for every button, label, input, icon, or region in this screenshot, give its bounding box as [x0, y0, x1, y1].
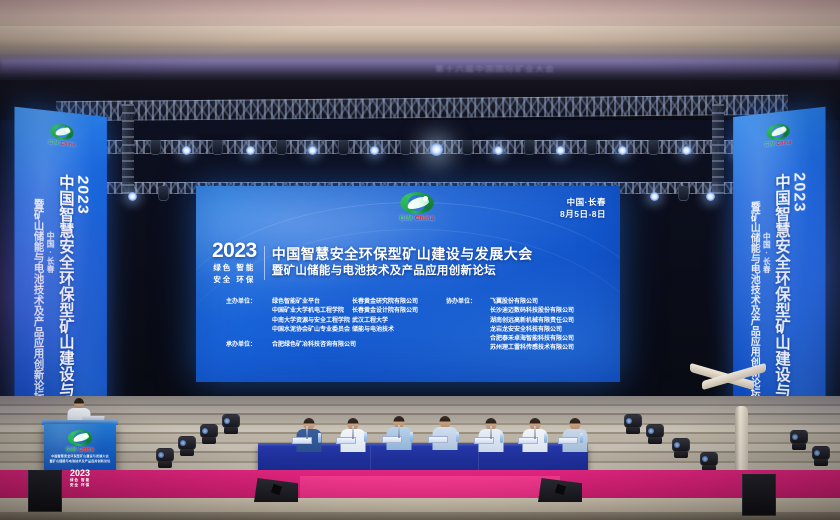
gim-china-logo-podium: GIMChina	[66, 430, 94, 453]
undertaker-value: 合肥绿色矿冶科技咨询有限公司	[272, 341, 356, 350]
place-card	[428, 436, 448, 443]
host-row-4: 中国水泥协会矿山专业委员会 储能与电池技术	[226, 326, 430, 335]
gim-logo-en: GIM	[400, 215, 413, 222]
coorganizer-list: 飞翼股份有限公司 长沙迪迈数码科技股份有限公司 湖南创远高新机械有限责任公司 龙…	[490, 298, 574, 354]
host-col2-item-2: 武汉工程大学	[352, 317, 430, 326]
place-card	[558, 437, 578, 444]
gim-logo-mark	[402, 192, 432, 214]
podium-caption-line2: 暨矿山储能与电池技术及产品应用创新论坛	[48, 459, 112, 464]
light-row-upper	[0, 140, 840, 170]
host-label-spacer	[226, 317, 272, 326]
gim-logo-en: GIM	[49, 140, 59, 147]
monitor-grill	[270, 484, 281, 495]
screen-slogan-line1: 绿色 智能	[212, 263, 257, 273]
water-bottle	[364, 432, 367, 442]
moving-head-light	[624, 414, 642, 434]
podium-caption-line1: 中国智慧安全环保型矿山建设与发展大会	[48, 454, 112, 459]
host-row-3: 中南大学资源与安全工程学院 武汉工程大学	[226, 317, 430, 326]
moving-head-light	[646, 424, 664, 444]
water-bottle	[318, 433, 321, 443]
screen-year: 2023	[212, 240, 257, 261]
moving-head-light	[790, 430, 808, 450]
gim-logo-cn: China	[415, 215, 435, 222]
coorganizer-block: 协办单位： 飞翼股份有限公司 长沙迪迈数码科技股份有限公司 湖南创远高新机械有限…	[446, 298, 574, 354]
host-col2-item-0: 长春黄金研究院有限公司	[352, 298, 430, 307]
moving-head-light	[156, 448, 174, 468]
undertaker-row: 承办单位： 合肥绿色矿冶科技咨询有限公司	[226, 341, 430, 350]
podium-slogan: 绿色 智能 安全 环保	[44, 478, 116, 488]
table-microphone	[490, 426, 492, 439]
water-bottle	[410, 432, 413, 442]
gim-china-logo-banner-left: GIMChina	[14, 119, 106, 151]
host-label: 主办单位：	[226, 298, 272, 307]
gim-logo-mark	[767, 123, 788, 141]
conference-stage-photo: 第十六届中国国际矿业大会	[0, 0, 840, 520]
screen-titles: 中国智慧安全环保型矿山建设与发展大会 暨矿山储能与电池技术及产品应用创新论坛	[272, 246, 610, 279]
screen-title-sub: 暨矿山储能与电池技术及产品应用创新论坛	[272, 264, 610, 279]
panelist	[562, 418, 588, 452]
coorganizer-item-0: 飞翼股份有限公司	[490, 298, 574, 307]
host-col1-item-2: 中南大学资源与安全工程学院	[272, 317, 352, 326]
screen-title-bar: 2023 绿色 智能 安全 环保 中国智慧安全环保型矿山建设与发展大会 暨矿山储…	[212, 240, 610, 285]
host-row-2: 中国矿业大学机电工程学院 长春黄金设计院有限公司	[226, 307, 430, 316]
coorganizer-item-4: 合肥泰禾卓海智能科技有限公司	[490, 335, 574, 344]
panelist	[432, 416, 458, 450]
stage-front-ledge-shadow	[0, 512, 840, 520]
monitor-grill	[554, 484, 565, 495]
gim-logo-cn: China	[78, 447, 93, 453]
screen-location: 中国·长春	[560, 196, 606, 208]
coorganizer-item-3: 龙岩龙安安全科技有限公司	[490, 326, 574, 335]
gim-logo-cn: China	[61, 141, 76, 148]
moving-head-light	[222, 414, 240, 434]
moving-head-light	[200, 424, 218, 444]
place-card	[292, 437, 312, 444]
table-microphone	[306, 426, 308, 439]
water-bottle	[580, 433, 583, 443]
moving-head-light	[700, 452, 718, 472]
screen-dates: 8月5日-8日	[560, 208, 606, 220]
speaker-podium: GIMChina 中国智慧安全环保型矿山建设与发展大会 暨矿山储能与电池技术及产…	[44, 424, 116, 490]
host-label-spacer	[226, 307, 272, 316]
ceiling-reflection-text: 第十六届中国国际矿业大会	[380, 64, 610, 77]
coorganizer-label: 协办单位：	[446, 298, 490, 354]
host-col2-item-3: 储能与电池技术	[352, 326, 430, 335]
host-organizer-block: 主办单位： 绿色智能矿业平台 长春黄金研究院有限公司 中国矿业大学机电工程学院 …	[226, 298, 430, 354]
gim-china-logo-banner-right: GIMChina	[733, 119, 825, 151]
screen-location-block: 中国·长春 8月5日-8日	[560, 196, 606, 221]
gim-logo-mark	[69, 430, 91, 446]
title-divider	[264, 246, 265, 280]
host-col2-item-1: 长春黄金设计院有限公司	[352, 307, 430, 316]
coorganizer-item-1: 长沙迪迈数码科技股份有限公司	[490, 307, 574, 316]
gim-logo-en: GIM	[765, 141, 775, 148]
gim-logo-mark	[51, 123, 72, 141]
host-col1-item-0: 绿色智能矿业平台	[272, 298, 352, 307]
coorganizer-item-5: 苏州理工雷科传感技术有限公司	[490, 344, 574, 353]
moving-head-light	[812, 446, 830, 466]
screen-organizer-area: 主办单位： 绿色智能矿业平台 长春黄金研究院有限公司 中国矿业大学机电工程学院 …	[226, 298, 604, 354]
screen-slogan-line2: 安全 环保	[212, 275, 257, 285]
host-col1-item-3: 中国水泥协会矿山专业委员会	[272, 326, 352, 335]
water-bottle	[456, 432, 459, 442]
screen-year-block: 2023 绿色 智能 安全 环保	[212, 240, 257, 285]
host-row-1: 主办单位： 绿色智能矿业平台 长春黄金研究院有限公司	[226, 298, 430, 307]
podium-caption: 中国智慧安全环保型矿山建设与发展大会 暨矿山储能与电池技术及产品应用创新论坛	[48, 454, 112, 463]
gim-logo-en: GIM	[66, 447, 76, 453]
gim-logo-text: GIMChina	[66, 447, 94, 453]
water-bottle	[500, 433, 503, 443]
ceiling-beam	[0, 26, 840, 48]
screen-title-main: 中国智慧安全环保型矿山建设与发展大会	[272, 246, 610, 264]
speaker-stack-right	[742, 474, 776, 516]
table-microphone	[534, 426, 536, 439]
table-microphone	[398, 425, 400, 438]
undertaker-label: 承办单位：	[226, 341, 272, 350]
gim-china-logo-screen: GIMChina	[205, 192, 620, 222]
host-col1-item-1: 中国矿业大学机电工程学院	[272, 307, 352, 316]
gim-logo-cn: China	[777, 140, 792, 147]
podium-year: 2023	[44, 468, 116, 478]
host-label-spacer	[226, 326, 272, 335]
water-bottle	[544, 433, 547, 443]
coorganizer-item-2: 湖南创远高新机械有限责任公司	[490, 317, 574, 326]
table-microphone	[352, 426, 354, 439]
gim-logo-text: GIMChina	[205, 215, 620, 222]
moving-head-light	[178, 436, 196, 456]
moving-head-light	[672, 438, 690, 458]
podium-slogan-line2: 安全 环保	[44, 483, 116, 488]
main-led-screen: GIMChina 中国·长春 8月5日-8日 2023 绿色 智能 安全 环保 …	[196, 186, 620, 382]
